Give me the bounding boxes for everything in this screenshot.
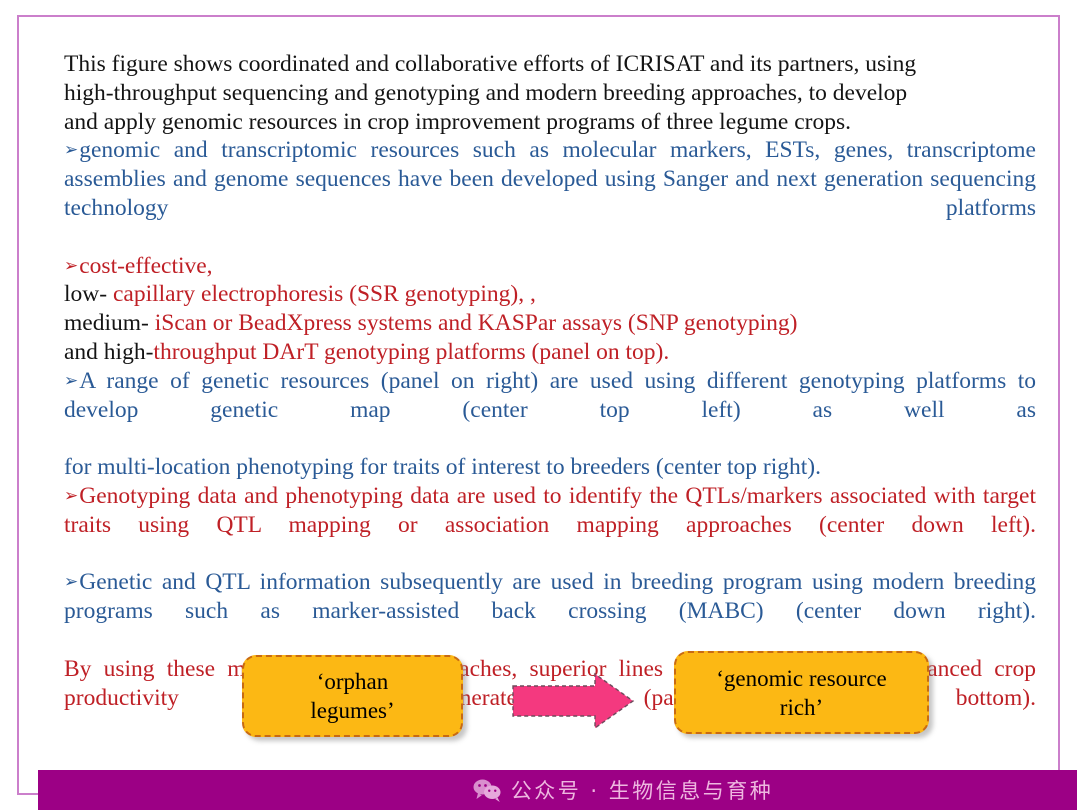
bullet-genomic-resources-text: genomic and transcriptomic resources suc… [64,137,1036,221]
arrow-bullet-icon: ➢ [64,371,79,391]
arrow-bullet-icon: ➢ [64,572,79,592]
bullet-genomic-resources: ➢genomic and transcriptomic resources su… [64,136,1036,251]
slide-frame: This figure shows coordinated and collab… [17,15,1060,795]
genomic-resource-rich-box-label: ‘genomic resource rich’ [716,664,887,722]
platform-high-label: and high- [64,339,153,365]
platform-low-text: capillary electrophoresis (SSR genotypin… [113,281,536,307]
bullet-cost-effective-text: cost-effective, [79,253,212,279]
right-arrow-icon [511,672,635,730]
intro-line-2: high-throughput sequencing and genotypin… [64,80,907,106]
platform-high: and high-throughput DArT genotyping plat… [64,338,1036,367]
orphan-legumes-line-1: ‘orphan [317,669,389,694]
genomic-resource-rich-line-2: rich’ [780,695,823,720]
intro-line-3: and apply genomic resources in crop impr… [64,109,851,135]
platform-low: low- capillary electrophoresis (SSR geno… [64,280,1036,309]
orphan-legumes-line-2: legumes’ [310,698,394,723]
wechat-icon [472,778,502,802]
arrow-bullet-icon: ➢ [64,486,79,506]
bullet-qtl-mapping-text: Genotyping data and phenotyping data are… [64,483,1036,538]
platform-medium-text: iScan or BeadXpress systems and KASPar a… [155,310,798,336]
platform-low-label: low- [64,281,113,307]
arrow-bullet-icon: ➢ [64,256,79,276]
footer-banner-content: 公众号 · 生物信息与育种 [472,775,774,805]
platform-medium: medium- iScan or BeadXpress systems and … [64,309,1036,338]
bullet-genetic-resources-text: A range of genetic resources (panel on r… [64,368,1036,423]
platform-high-text: throughput DArT genotyping platforms (pa… [153,339,669,365]
platform-medium-label: medium- [64,310,155,336]
arrow-bullet-icon: ➢ [64,140,79,160]
bullet-genetic-resources: ➢A range of genetic resources (panel on … [64,367,1036,453]
intro-paragraph: This figure shows coordinated and collab… [64,50,1036,136]
genomic-resource-rich-box[interactable]: ‘genomic resource rich’ [674,651,929,734]
footer-banner: 公众号 · 生物信息与育种 [38,770,1077,810]
genomic-resource-rich-line-1: ‘genomic resource [716,666,887,691]
slide-canvas: This figure shows coordinated and collab… [0,0,1080,810]
orphan-legumes-box[interactable]: ‘orphan legumes’ [242,655,463,737]
bullet-genetic-resources-tail: for multi-location phenotyping for trait… [64,453,1036,482]
bullet-genetic-resources-tail-text: for multi-location phenotyping for trait… [64,454,821,480]
bullet-qtl-mapping: ➢Genotyping data and phenotyping data ar… [64,482,1036,568]
orphan-legumes-box-label: ‘orphan legumes’ [310,667,394,725]
bullet-breeding-program-text: Genetic and QTL information subsequently… [64,569,1036,624]
intro-line-1: This figure shows coordinated and collab… [64,51,916,77]
bullet-cost-effective: ➢cost-effective, [64,252,1036,281]
footer-banner-text: 公众号 · 生物信息与育种 [511,775,774,805]
